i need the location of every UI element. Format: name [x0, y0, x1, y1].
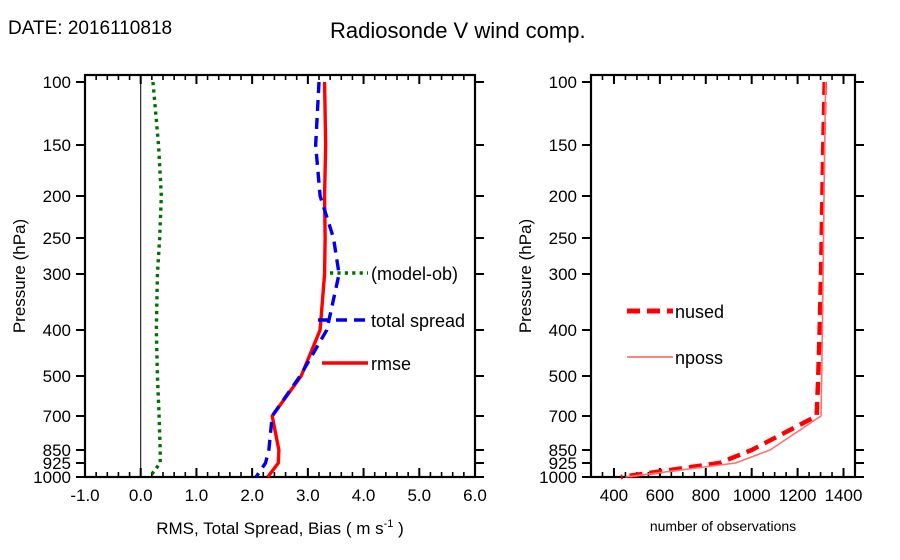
left-legend-label-1: total spread	[371, 311, 465, 331]
left-xticklabel: -1.0	[70, 486, 99, 505]
right-yticklabel: 250	[549, 229, 577, 248]
left-xticklabel: 6.0	[463, 486, 487, 505]
left-xlabel: RMS, Total Spread, Bias ( m s-1 )	[156, 518, 404, 538]
right-yticklabel: 1000	[539, 468, 577, 487]
left-xticklabel: 2.0	[240, 486, 264, 505]
right-yticklabel: 200	[549, 187, 577, 206]
left-yticklabel: 700	[43, 407, 71, 426]
left-xticklabel: 0.0	[129, 486, 153, 505]
left-yticklabel: 1000	[33, 468, 71, 487]
right-series-nposs	[625, 82, 825, 477]
left-yticklabel: 400	[43, 321, 71, 340]
right-xlabel: number of observations	[650, 518, 796, 534]
right-xticklabel: 1400	[825, 486, 863, 505]
right-xticklabel: 400	[600, 486, 628, 505]
left-yticklabel: 500	[43, 367, 71, 386]
left-panel: -1.00.01.02.03.04.05.06.0100150200250300…	[10, 73, 487, 538]
plots-svg: -1.00.01.02.03.04.05.06.0100150200250300…	[0, 0, 900, 560]
left-yticklabel: 100	[43, 73, 71, 92]
right-ylabel: Pressure (hPa)	[516, 219, 535, 333]
right-yticklabel: 150	[549, 136, 577, 155]
right-yticklabel: 500	[549, 367, 577, 386]
right-xticklabel: 1200	[779, 486, 817, 505]
left-xticklabel: 4.0	[352, 486, 376, 505]
right-xticklabel: 600	[646, 486, 674, 505]
right-series-nused	[621, 82, 825, 477]
right-legend-label-1: nposs	[675, 348, 723, 368]
left-yticklabel: 250	[43, 229, 71, 248]
left-yticklabel: 300	[43, 265, 71, 284]
left-yticklabel: 150	[43, 136, 71, 155]
figure-canvas: DATE: 2016110818 Radiosonde V wind comp.…	[0, 0, 900, 560]
left-xticklabel: 3.0	[296, 486, 320, 505]
right-frame	[591, 75, 855, 477]
right-xticklabel: 800	[692, 486, 720, 505]
right-legend-label-0: nused	[675, 302, 724, 322]
left-legend-label-0: (model-ob)	[371, 264, 458, 284]
left-legend-label-2: rmse	[371, 354, 411, 374]
right-yticklabel: 300	[549, 265, 577, 284]
left-xticklabel: 5.0	[407, 486, 431, 505]
left-xticklabel: 1.0	[185, 486, 209, 505]
right-yticklabel: 100	[549, 73, 577, 92]
right-yticklabel: 700	[549, 407, 577, 426]
left-series-bias	[150, 82, 162, 477]
right-xticklabel: 1000	[733, 486, 771, 505]
right-panel: 4006008001000120014001001502002503004005…	[516, 73, 864, 534]
right-yticklabel: 400	[549, 321, 577, 340]
left-ylabel: Pressure (hPa)	[10, 219, 29, 333]
left-yticklabel: 200	[43, 187, 71, 206]
